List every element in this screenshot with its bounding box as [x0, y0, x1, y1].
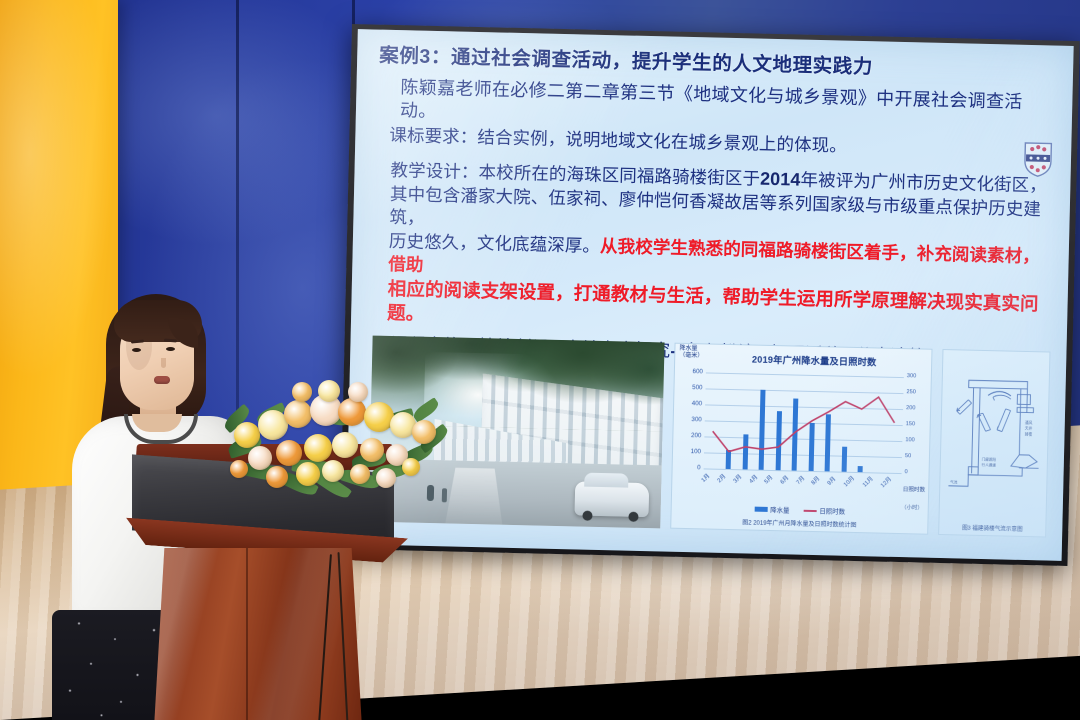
- flower-bloom: [234, 422, 260, 448]
- eye-right: [166, 347, 175, 351]
- rainfall-sunshine-chart: 降水量（毫米） 2019年广州降水量及日照时数 日照时数 （小时） 010020…: [670, 343, 932, 535]
- flower-bloom: [360, 438, 384, 462]
- qilou-airflow-diagram: 通风 天井 骑楼 门廊遮阳 行人通道 气流 图3 福建骑楼气流示意图: [938, 349, 1050, 537]
- lecture-hall-scene: 案例3：通过社会调查活动，提升学生的人文地理实践力 陈颖嘉老师在必修二第二章第三…: [0, 0, 1080, 720]
- chart-line-path: [712, 393, 895, 455]
- chart-caption: 图2 2019年广州月降水量及日照时数统计图: [671, 516, 927, 531]
- flower-bloom: [266, 466, 288, 488]
- flower-bloom: [248, 446, 272, 470]
- eye-left: [132, 348, 141, 352]
- school-crest-icon: [1023, 141, 1054, 178]
- diagram-label-portico: 门廊遮阳: [982, 456, 997, 461]
- diagram-label-arcade: 骑楼: [1025, 431, 1033, 436]
- flower-bloom: [332, 432, 358, 458]
- slide-teaching-design: 教学设计：本校所在的海珠区同福路骑楼街区于2014年被评为广州市历史文化街区， …: [373, 158, 1053, 342]
- flower-bloom: [350, 464, 370, 484]
- chart-legend: 降水量 日照时数: [672, 503, 928, 518]
- projection-screen-frame: 案例3：通过社会调查活动，提升学生的人文地理实践力 陈颖嘉老师在必修二第二章第三…: [340, 24, 1080, 566]
- diagram-label-walkway: 行人通道: [982, 462, 997, 467]
- nose: [161, 358, 166, 368]
- flower-bloom: [276, 440, 302, 466]
- chart-y-tick: 500: [692, 384, 702, 391]
- chart-y-tick: 400: [692, 400, 702, 407]
- flower-bloom: [376, 468, 396, 488]
- chart-y2-tick: 300: [907, 373, 916, 379]
- flower-arrangement: [222, 368, 438, 504]
- chart-y-tick: 200: [691, 432, 701, 439]
- design-text-3: 历史悠久，文化底蕴深厚。: [389, 231, 601, 256]
- chart-y2-tick: 100: [905, 437, 914, 443]
- mouth: [154, 376, 170, 384]
- flower-leaf: [411, 397, 441, 423]
- chart-y2-axis-label: 日照时数: [903, 485, 926, 494]
- chart-y2-tick: 0: [905, 469, 908, 475]
- podium-column: [154, 548, 362, 720]
- diagram-label-airflow: 气流: [950, 479, 958, 484]
- chart-y-tick: 600: [692, 368, 702, 375]
- flower-bloom: [322, 460, 344, 482]
- diagram-label-courtyard: 天井: [1025, 426, 1033, 431]
- design-label: 教学设计：: [390, 160, 478, 182]
- flower-bloom: [292, 382, 312, 402]
- design-year: 2014: [760, 169, 801, 190]
- legend-label-sunshine: 日照时数: [819, 506, 845, 516]
- design-text-1b: 年被评为广州市历史文化街区，: [800, 170, 1047, 196]
- chart-y2-tick: 50: [905, 453, 911, 459]
- flower-bloom: [402, 458, 420, 476]
- flower-bloom: [338, 398, 366, 426]
- flower-bloom: [318, 380, 340, 402]
- projection-screen: 案例3：通过社会调查活动，提升学生的人文地理实践力 陈颖嘉老师在必修二第二章第三…: [346, 29, 1074, 561]
- legend-label-precipitation: 降水量: [770, 505, 789, 514]
- chart-x-tick-labels: 1月2月3月4月5月6月7月8月9月10月11月12月: [703, 470, 902, 501]
- hair-fringe: [114, 300, 202, 342]
- slide-media-row: 降水量（毫米） 2019年广州降水量及日照时数 日照时数 （小时） 010020…: [368, 336, 1050, 548]
- flower-bloom: [304, 434, 332, 462]
- requirement-label: 课标要求：: [389, 125, 477, 147]
- legend-bar-swatch: [754, 507, 767, 512]
- diagram-label-ventilation: 通风: [1025, 420, 1033, 425]
- chart-y-tick: 100: [691, 448, 701, 455]
- chart-y2-tick: 250: [906, 389, 915, 395]
- chart-y2-tick: 150: [906, 421, 915, 427]
- legend-item-precipitation: 降水量: [754, 505, 789, 515]
- chart-y-tick: 0: [697, 464, 701, 471]
- chart-y2-tick: 200: [906, 405, 915, 411]
- flower-bloom: [284, 400, 312, 428]
- chart-y-tick: 300: [691, 416, 701, 423]
- flower-bloom: [230, 460, 248, 478]
- chart-plot-area: 0100200300400500600050100150200250300: [704, 372, 904, 473]
- photo-parked-car: [575, 481, 650, 517]
- flower-bloom: [348, 382, 368, 402]
- flower-bloom: [296, 462, 320, 486]
- legend-item-sunshine: 日照时数: [803, 506, 845, 516]
- legend-line-swatch: [803, 509, 816, 511]
- airflow-diagram-drawing: 通风 天井 骑楼 门廊遮阳 行人通道 气流: [939, 350, 1049, 536]
- chart-line-series: [704, 372, 904, 472]
- chart-y-axis-label: 降水量（毫米）: [679, 346, 703, 360]
- flower-bloom: [412, 420, 436, 444]
- chart-title: 2019年广州降水量及日照时数: [701, 350, 927, 369]
- chart-x-tick: 12月: [878, 474, 905, 501]
- podium-corner-edge: [246, 548, 248, 720]
